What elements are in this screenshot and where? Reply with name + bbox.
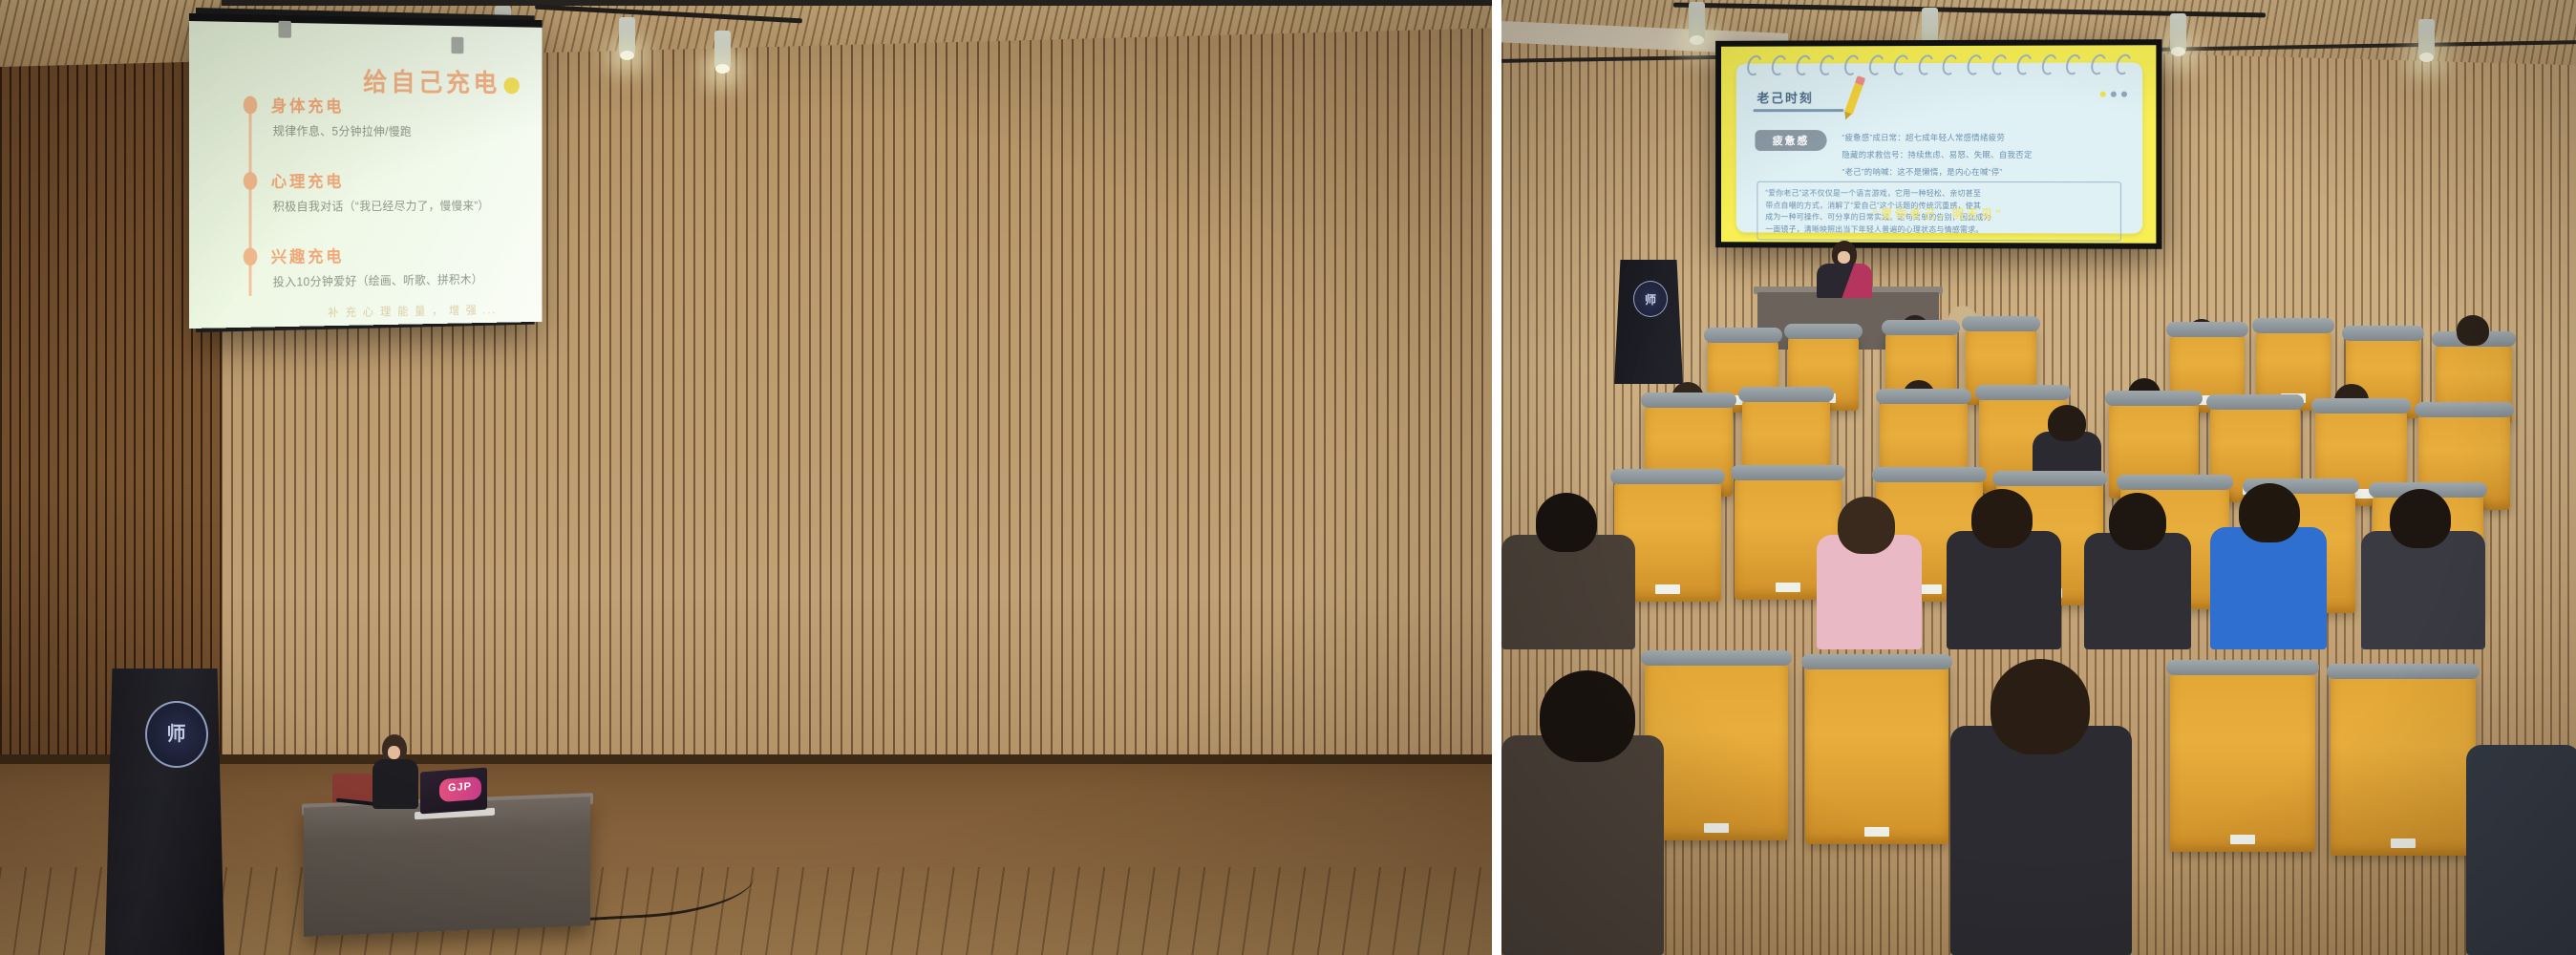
podium-left: 师	[105, 668, 224, 955]
school-emblem: 师	[145, 701, 208, 768]
spotlight-r4	[2418, 19, 2435, 57]
note-card: 老己时刻 疲惫感 “疲惫感”成日常：超七成年轻人常感情绪疲劳 隐藏的求救信号：持…	[1736, 62, 2142, 233]
audience-head	[2239, 483, 2300, 542]
status-badge: 疲惫感	[1755, 130, 1826, 151]
stage-edge	[0, 754, 1492, 764]
note-title: 老己时刻	[1756, 88, 1813, 106]
notebook-slide: 老己时刻 疲惫感 “疲惫感”成日常：超七成年轻人常感情绪疲劳 隐藏的求救信号：持…	[1721, 45, 2156, 244]
slide-title-text: 给自己充电	[363, 68, 500, 97]
audience-head	[1971, 489, 2033, 548]
presenter-face-right	[1838, 251, 1850, 264]
audience-person	[2361, 531, 2485, 649]
audience-head	[1838, 497, 1895, 554]
spotlight-r3	[2170, 13, 2186, 52]
spotlight-r1	[1689, 2, 1705, 40]
projected-slide-left: 给自己充电 身体充电 规律作息、5分钟拉伸/慢跑 心理充电 积极自我对话（“我已…	[189, 13, 542, 329]
bullet-sub-3: 投入10分钟爱好（绘画、听歌、拼积木）	[273, 269, 483, 290]
bullet-dot-1	[244, 96, 258, 115]
audience-head	[1991, 659, 2090, 754]
presenter-torso-right	[1817, 264, 1872, 298]
slide-footer: 补 充 心 理 能 量 ， 增 强 ...	[328, 302, 497, 321]
spotlight-3	[714, 31, 731, 69]
seat[interactable]	[2331, 672, 2476, 856]
bullet-heading-1: 身体充电	[271, 93, 345, 117]
audience-head	[2390, 489, 2451, 548]
note-line-1: “疲惫感”成日常：超七成年轻人常感情绪疲劳	[1842, 132, 2005, 143]
timeline-line	[249, 102, 252, 296]
presenter-face	[388, 746, 400, 759]
laptop-sticker	[439, 776, 481, 802]
presenter-figure	[371, 734, 420, 807]
right-panel-audience-view: 老己时刻 疲惫感 “疲惫感”成日常：超七成年轻人常感情绪疲劳 隐藏的求救信号：持…	[1501, 0, 2576, 955]
projection-screen-right: 老己时刻 疲惫感 “疲惫感”成日常：超七成年轻人常感情绪疲劳 隐藏的求救信号：持…	[1715, 39, 2161, 249]
audience-person	[2210, 527, 2327, 649]
seat[interactable]	[1805, 663, 1948, 844]
presenter-figure-right	[1817, 241, 1872, 296]
bullet-dot-2	[244, 172, 258, 190]
left-panel-stage-view: 给自己充电 身体充电 规律作息、5分钟拉伸/慢跑 心理充电 积极自我对话（“我已…	[0, 0, 1492, 955]
note-line-3: “老己”的呐喊：这不是懒惰，是内心在喊“停”	[1842, 166, 2002, 178]
battery-icon	[503, 77, 519, 94]
ceiling-strip	[222, 0, 1492, 6]
note-line-2: 隐藏的求救信号：持续焦虑、易怒、失眠、自我否定	[1842, 149, 2032, 160]
podium-right: 师	[1614, 260, 1683, 384]
audience-person-foreground	[1950, 726, 2132, 955]
audience-head	[2048, 405, 2086, 441]
spotlight-2	[619, 17, 635, 55]
audience-person-foreground	[2466, 745, 2576, 955]
screen-bracket-2	[451, 37, 463, 54]
seat[interactable]	[1645, 659, 1788, 840]
photo-collage: 给自己充电 身体充电 规律作息、5分钟拉伸/慢跑 心理充电 积极自我对话（“我已…	[0, 0, 2576, 955]
paragraph-line-1: “爱你老己”这不仅仅是一个语言游戏，它用一种轻松、亲切甚至	[1765, 188, 2113, 201]
pencil-icon	[1844, 82, 1863, 116]
audience-person	[1501, 535, 1635, 649]
spiral-rings-icon	[1748, 53, 2131, 74]
bullet-sub-1: 规律作息、5分钟拉伸/慢跑	[273, 121, 412, 139]
note-title-underline	[1753, 109, 1843, 112]
slide-title: 给自己充电	[363, 62, 520, 100]
bullet-heading-2: 心理充电	[271, 168, 345, 192]
audience-person	[1947, 531, 2061, 649]
audience-head	[2109, 493, 2166, 550]
audience-head	[1540, 670, 1635, 762]
audience-person	[2084, 533, 2191, 649]
seat[interactable]	[2170, 668, 2315, 852]
bullet-dot-3	[244, 247, 258, 265]
slide-canvas: 给自己充电 身体充电 规律作息、5分钟拉伸/慢跑 心理充电 积极自我对话（“我已…	[189, 13, 542, 329]
audience-head	[2457, 315, 2489, 346]
school-emblem-right: 师	[1633, 281, 1668, 317]
screen-bracket-1	[279, 21, 291, 38]
bullet-sub-2: 积极自我对话（“我已经尽力了，慢慢来”）	[273, 196, 490, 215]
paragraph-line-4: 一面镜子，清晰映照出当下年轻人普遍的心理状态与情感需求。	[1765, 223, 2113, 237]
presenter-torso	[373, 759, 418, 809]
corner-dots	[2100, 92, 2127, 97]
note-quote: “爱你老己，明天见”	[1736, 205, 2142, 223]
emblem-character: 师	[167, 723, 187, 747]
laptop-lid	[420, 768, 487, 815]
audience-head	[1536, 493, 1597, 552]
bullet-heading-3: 兴趣充电	[271, 244, 345, 267]
audience-person-foreground	[1501, 735, 1664, 955]
